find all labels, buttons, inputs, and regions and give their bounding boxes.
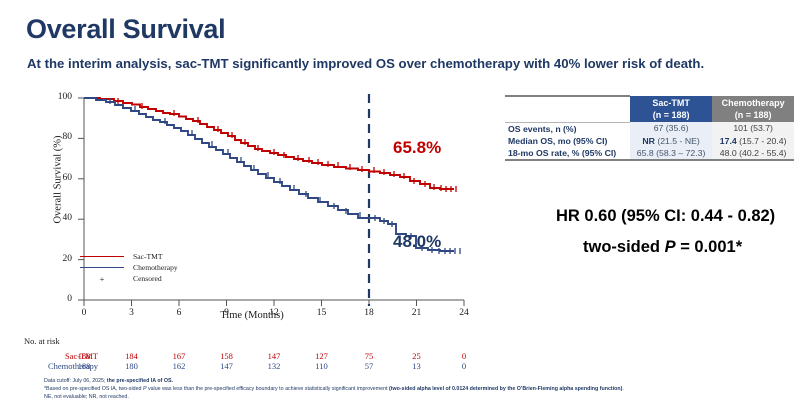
- risk-sac-12: 147: [261, 351, 287, 361]
- table-row: 18-mo OS rate, % (95% CI) 65.8 (58.3 – 7…: [505, 147, 794, 160]
- page-title: Overall Survival: [26, 14, 225, 45]
- slide-root: Overall Survival At the interim analysis…: [0, 0, 800, 407]
- risk-sac-6: 167: [166, 351, 192, 361]
- table-row: OS events, n (%) 67 (35.6) 101 (53.7): [505, 122, 794, 135]
- risk-chemo-6: 162: [166, 361, 192, 371]
- table-row: Median OS, mo (95% CI) NR (21.5 - NE) 17…: [505, 135, 794, 147]
- legend-item-sac-tmt: Sac-TMT: [80, 251, 178, 262]
- legend-label-censored: Censored: [133, 274, 162, 283]
- risk-chemo-15: 110: [309, 361, 335, 371]
- cell-18mo-os-rate-sac: 65.8 (58.3 – 72.3): [630, 147, 712, 160]
- risk-sac-9: 158: [214, 351, 240, 361]
- annotation-os-rate-chemo: 48.0%: [393, 232, 441, 252]
- footnote-line-2: *Based on pre-specified OS IA, two-sided…: [44, 385, 784, 393]
- legend-label-chemo: Chemotherapy: [133, 263, 178, 272]
- row-label-median-os: Median OS, mo (95% CI): [505, 135, 630, 147]
- legend-line-icon-sac: [80, 256, 124, 257]
- risk-chemo-9: 147: [214, 361, 240, 371]
- cell-median-os-sac: NR (21.5 - NE): [630, 135, 712, 147]
- legend-item-chemotherapy: Chemotherapy: [80, 262, 178, 273]
- risk-chemo-12: 132: [261, 361, 287, 371]
- risk-sac-0: 188: [71, 351, 97, 361]
- km-survival-chart: 0 20 40 60 80 100 0 3 6 9 12 15 18 21 24…: [22, 88, 492, 338]
- cell-18mo-os-rate-chemo: 48.0 (40.2 - 55.4): [712, 147, 794, 160]
- table-header-chemotherapy: Chemotherapy (n = 188): [712, 96, 794, 122]
- x-tick-24: 24: [453, 308, 475, 318]
- p-value-text: two-sided P = 0.001*: [583, 238, 742, 257]
- legend-line-icon-chemo: [80, 267, 124, 268]
- results-table: Sac-TMT (n = 188) Chemotherapy (n = 188)…: [505, 95, 794, 161]
- footnote-line-1: Data cutoff: July 06, 2025; the pre-spec…: [44, 377, 784, 385]
- risk-sac-15: 127: [309, 351, 335, 361]
- risk-chemo-3: 180: [119, 361, 145, 371]
- table-header-blank: [505, 96, 630, 122]
- cell-os-events-chemo: 101 (53.7): [712, 122, 794, 135]
- cell-os-events-sac: 67 (35.6): [630, 122, 712, 135]
- risk-chemo-18: 57: [356, 361, 382, 371]
- risk-table-title: No. at risk: [24, 336, 60, 346]
- risk-sac-24: 0: [451, 351, 477, 361]
- risk-chemo-24: 0: [451, 361, 477, 371]
- x-axis-title: Time (Months): [82, 310, 422, 321]
- plus-icon: +: [80, 274, 124, 284]
- hazard-ratio-text: HR 0.60 (95% CI: 0.44 - 0.82): [556, 207, 775, 226]
- table-header-row: Sac-TMT (n = 188) Chemotherapy (n = 188): [505, 96, 794, 122]
- annotation-os-rate-sac: 65.8%: [393, 138, 441, 158]
- table-header-sac-name: Sac-TMT: [633, 97, 709, 109]
- table-header-chemo-n: (n = 188): [715, 109, 791, 121]
- row-label-os-events: OS events, n (%): [505, 122, 630, 135]
- table-header-sac-n: (n = 188): [633, 109, 709, 121]
- risk-chemo-0: 188: [71, 361, 97, 371]
- legend-item-censored: + Censored: [80, 273, 178, 284]
- risk-chemo-21: 13: [404, 361, 430, 371]
- risk-sac-3: 184: [119, 351, 145, 361]
- cell-median-os-chemo: 17.4 (15.7 - 20.4): [712, 135, 794, 147]
- y-tick-0: 0: [46, 294, 72, 304]
- legend-label-sac: Sac-TMT: [133, 252, 163, 261]
- risk-sac-18: 75: [356, 351, 382, 361]
- risk-sac-21: 25: [404, 351, 430, 361]
- table-header-sac-tmt: Sac-TMT (n = 188): [630, 96, 712, 122]
- footnotes: Data cutoff: July 06, 2025; the pre-spec…: [44, 377, 784, 402]
- footnote-line-3: NE, not evaluable; NR, not reached.: [44, 393, 784, 401]
- page-subtitle: At the interim analysis, sac-TMT signifi…: [27, 56, 704, 71]
- chart-legend: Sac-TMT Chemotherapy + Censored: [80, 251, 178, 284]
- table-header-chemo-name: Chemotherapy: [715, 97, 791, 109]
- km-plot-svg: [22, 88, 492, 338]
- y-axis-title: Overall Survival (%): [53, 100, 64, 260]
- row-label-18mo-os-rate: 18-mo OS rate, % (95% CI): [505, 147, 630, 160]
